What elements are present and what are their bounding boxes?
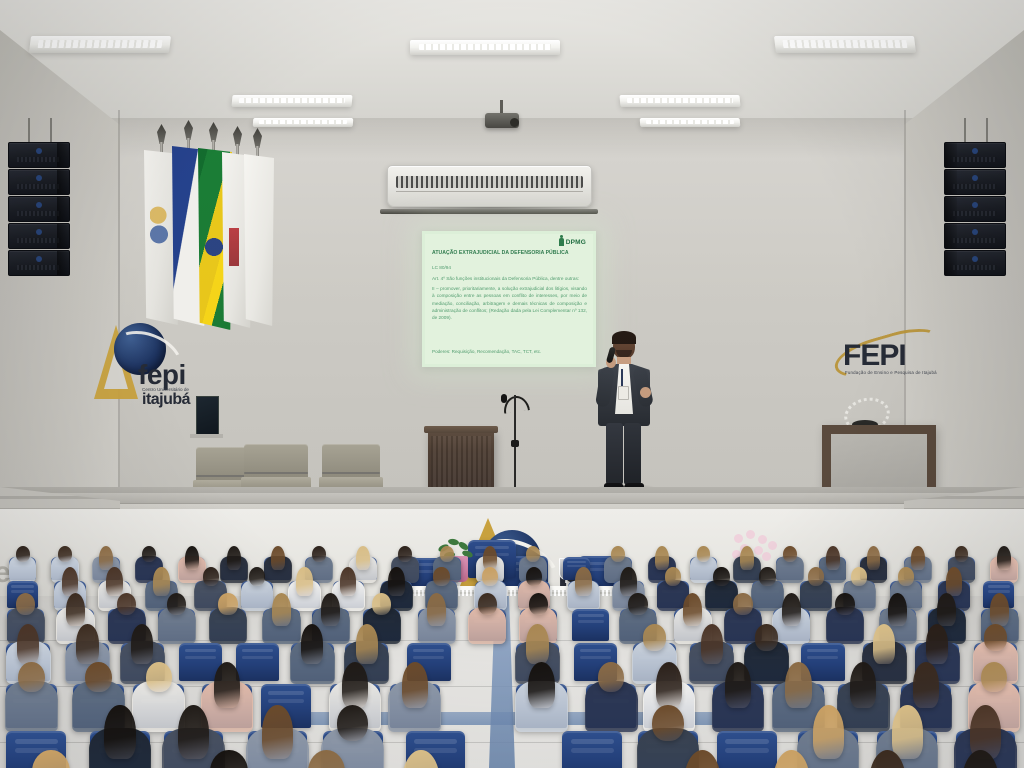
audience-member-head	[867, 546, 881, 570]
speaker-array-left	[8, 142, 70, 277]
audience-member-head	[18, 662, 44, 693]
audience-member-head	[937, 593, 956, 627]
wall-rail	[380, 209, 598, 214]
audience-member-head	[665, 567, 681, 586]
audience-member-head	[740, 546, 754, 570]
audience-member-head	[990, 593, 1009, 627]
ceiling-light-fixture	[29, 36, 171, 53]
audience-member-head	[76, 624, 99, 663]
audience-member-head	[755, 624, 778, 650]
audience-member-head	[652, 705, 683, 741]
audience-member-head	[898, 567, 914, 586]
audience-member-head	[440, 546, 454, 562]
slide-paragraph-1: Art. 4º São funções institucionais da De…	[432, 275, 587, 282]
audience-member-head	[433, 567, 449, 586]
ceiling-light-fixture	[253, 118, 354, 127]
ceiling-light-fixture	[619, 95, 740, 107]
audience-member-head	[482, 567, 498, 586]
slide-footer: Poderes: Requisição, Recomendação, TAC, …	[432, 349, 587, 354]
audience-member-head	[62, 567, 78, 596]
audience-member-head	[611, 546, 625, 562]
audience-chair	[572, 609, 609, 641]
audience-member-head	[683, 593, 702, 627]
audience-member-head	[888, 593, 907, 627]
presenter	[592, 333, 654, 493]
audience-member-head	[835, 593, 854, 615]
speaker-array-right	[944, 142, 1006, 277]
flag-mg-triangle	[229, 228, 239, 266]
audience-member-head	[17, 624, 40, 663]
audience-member-head	[356, 624, 379, 663]
fepi-wall-logo-right: FEPI Fundação de Ensino e Pesquisa de It…	[833, 333, 937, 385]
audience-member-head	[526, 624, 549, 663]
audience-member-head	[955, 546, 969, 562]
audience-member-head	[759, 567, 775, 586]
audience-member-head	[185, 546, 199, 570]
mic-stand-clamp	[511, 440, 519, 447]
audience-member-head	[356, 546, 370, 570]
audience-member-head	[656, 662, 682, 708]
audience-member-head	[337, 705, 368, 741]
audience-member-head	[946, 567, 962, 596]
audience-member-head	[926, 624, 949, 663]
audience-member-head	[655, 546, 669, 570]
audience-member-head	[528, 662, 554, 708]
audience-member-head	[733, 593, 752, 615]
audience-member-head	[131, 624, 154, 663]
audience-member-head	[227, 546, 241, 570]
audience-member-head	[271, 546, 285, 570]
ac-seam	[396, 191, 583, 192]
audience-member-head	[529, 593, 548, 615]
audience-member-head	[117, 593, 136, 615]
audience-chair	[717, 731, 777, 768]
audience-member-head	[106, 567, 122, 596]
audience-member-head	[628, 593, 647, 615]
audience-member-head	[398, 546, 412, 562]
wall-mounted-panel	[196, 396, 219, 438]
audience-member-head	[701, 624, 724, 663]
audience-member-head	[249, 567, 265, 586]
audience-member-head	[321, 593, 340, 627]
dpmg-logo: DPMG	[559, 238, 586, 246]
fepi-right-subtitle: Fundação de Ensino e Pesquisa de Itajubá	[845, 370, 937, 375]
flag-crest-detail	[150, 196, 170, 260]
audience-member-head	[851, 567, 867, 586]
audience-member-head	[388, 567, 404, 596]
audience-member-head	[85, 662, 111, 693]
audience-member-head	[99, 546, 113, 570]
audience-member-head	[526, 567, 542, 586]
audience-member-head	[16, 546, 30, 562]
badge-icon	[618, 386, 629, 400]
audience-member-head	[16, 593, 35, 615]
lectern	[428, 430, 494, 492]
slide-body: LC 80/94 Art. 4º São funções institucion…	[432, 264, 587, 324]
audience-member-head	[892, 705, 923, 760]
audience-member-head	[340, 567, 356, 596]
audience-member-head	[598, 662, 624, 693]
audience-member-head	[813, 705, 844, 760]
ceiling-light-fixture	[640, 118, 741, 127]
audience-member-head	[725, 662, 751, 708]
audience-member-head	[873, 624, 896, 663]
audience-member-head	[342, 662, 368, 708]
audience-member-head	[850, 662, 876, 708]
audience-member-head	[785, 662, 811, 708]
audience-member-head	[272, 593, 291, 627]
fepi-wall-logo-left: fepi Centro Universitário de itajubá	[92, 315, 204, 411]
flag-white-plain	[244, 154, 274, 326]
audience-member-head	[913, 662, 939, 708]
audience-member-head	[146, 662, 172, 693]
audience-member-head	[808, 567, 824, 586]
slide-paragraph-2: II – promover, prioritariamente, a soluç…	[432, 285, 587, 321]
audience-member-head	[826, 546, 840, 570]
audience-member-head	[178, 705, 209, 760]
presenter-leg-left	[606, 423, 623, 485]
audience-member-head	[782, 593, 801, 627]
audience-member-head	[214, 662, 240, 708]
audience-member-head	[427, 593, 446, 627]
projector-lens-icon	[510, 118, 519, 127]
audience-member-head	[402, 662, 428, 708]
audience-chair	[236, 643, 279, 681]
microphone-icon	[501, 394, 507, 403]
presenter-leg-right	[624, 423, 641, 485]
audience-member-head	[526, 546, 540, 562]
audience-chair	[562, 731, 622, 768]
auditorium-photo: fepi Centro Universitário de itajubá FEP…	[0, 0, 1024, 768]
audience-member-head	[911, 546, 925, 570]
audience-member-head	[58, 546, 72, 562]
dpmg-label: DPMG	[566, 239, 586, 246]
audience-member-head	[478, 593, 497, 615]
ac-louvers	[396, 176, 583, 188]
audience-member-head	[301, 624, 324, 663]
audience-member-head	[167, 593, 186, 615]
audience-member-head	[104, 705, 135, 760]
audience-member-head	[713, 567, 729, 586]
ceiling-light-fixture	[231, 95, 352, 107]
audience-member-head	[783, 546, 797, 562]
audience-member-head	[66, 593, 85, 627]
audience-member-head	[203, 567, 219, 586]
audience-member-head	[575, 567, 591, 596]
audience-member-head	[218, 593, 237, 615]
audience-member-head	[981, 662, 1007, 693]
slide-title: ATUAÇÃO EXTRAJUDICIAL DA DEFENSORIA PÚBL…	[432, 250, 587, 256]
ceiling-light-fixture	[410, 40, 560, 55]
person-icon	[559, 238, 564, 246]
slide-reference: LC 80/94	[432, 264, 587, 271]
fepi-right-word: FEPI	[843, 339, 906, 373]
audience-member-head	[296, 567, 312, 596]
audience-member-head	[620, 567, 636, 596]
audience-member-head	[372, 593, 391, 615]
audience-member-head	[643, 624, 666, 650]
fepi-left-city: itajubá	[142, 391, 190, 409]
ceiling-light-fixture	[774, 36, 916, 53]
audience-member-head	[697, 546, 711, 562]
audience-member-head	[984, 624, 1007, 650]
air-conditioner-unit	[387, 165, 592, 207]
presenter-hand-right	[640, 387, 651, 398]
projection-screen: DPMG ATUAÇÃO EXTRAJUDICIAL DA DEFENSORIA…	[422, 231, 596, 367]
audience-area	[0, 520, 1024, 768]
flag-brazil-globe	[204, 236, 224, 258]
audience-member-head	[997, 546, 1011, 570]
audience-member-head	[312, 546, 326, 562]
audience-member-head	[262, 705, 293, 760]
presenter-hair	[612, 331, 636, 344]
wall-seam-left	[118, 110, 120, 510]
wall-shelf	[190, 434, 223, 438]
slide-surface: DPMG ATUAÇÃO EXTRAJUDICIAL DA DEFENSORIA…	[425, 234, 593, 364]
lanyard-cord	[621, 369, 623, 387]
audience-member-head	[142, 546, 156, 562]
audience-member-head	[153, 567, 169, 596]
